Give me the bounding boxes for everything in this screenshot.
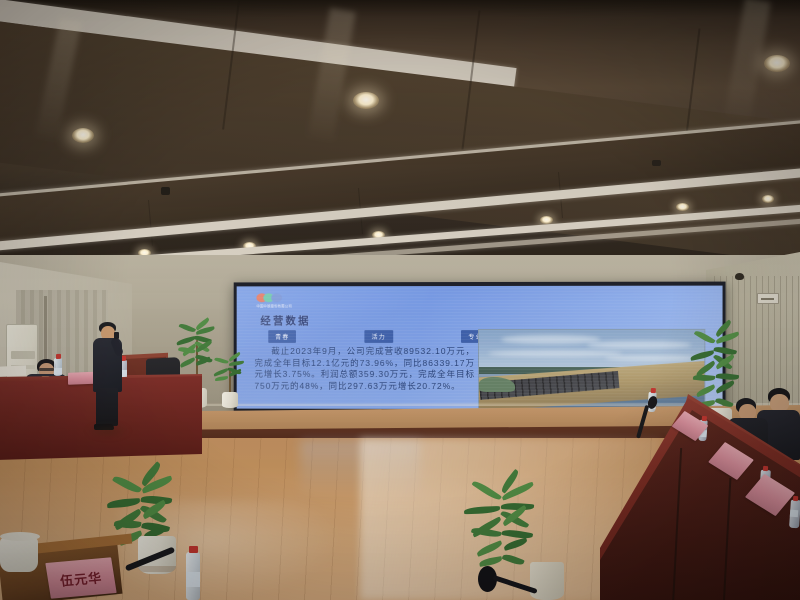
slide-body-text: 截止2023年9月，公司完成营收89532.10万元，完成全年目标12.1亿元的… [254, 346, 475, 392]
plant-pot-shadow [138, 566, 176, 572]
plant-pot [530, 562, 564, 600]
ceiling-spotlight [353, 92, 379, 109]
presenter-legs [96, 388, 118, 426]
glasses-icon [39, 368, 54, 371]
ceiling-speaker-icon [652, 160, 661, 166]
bottle-label [54, 368, 62, 375]
conference-hall-scene: 中国中铁股份有限公司 经营数据 青春 活力 专业 梦想 截止2023年9月，公司… [0, 0, 800, 600]
paper-document [0, 365, 26, 376]
slide-photo [478, 329, 705, 409]
ac-vent [11, 351, 35, 359]
tea-cup-lid [0, 532, 40, 541]
ceiling [0, 0, 800, 292]
slide-tag-1: 青春 [268, 330, 296, 343]
ceiling-spotlight [762, 195, 774, 203]
presenter-shadow [86, 424, 130, 438]
photo-cloud [587, 341, 691, 349]
bottle-label [186, 572, 200, 587]
security-camera-icon [735, 273, 744, 280]
bottle-cap [189, 546, 198, 553]
bottle-cap [701, 416, 706, 421]
bottle-label [790, 510, 798, 518]
slide-tag-2: 活力 [365, 330, 393, 343]
wall-sign [757, 293, 779, 304]
company-logo: 中国中铁股份有限公司 [256, 293, 286, 309]
plant-pot [222, 392, 238, 408]
water-bottle [54, 358, 62, 376]
ceiling-spotlight [676, 203, 689, 211]
microphone-handheld [114, 332, 119, 339]
foreground-water-bottle [186, 552, 200, 600]
photo-bank-vegetation [479, 377, 515, 393]
ceiling-spotlight [72, 128, 94, 143]
ceiling-spotlight [540, 216, 553, 224]
photo-cloud [501, 335, 600, 344]
slide-title: 经营数据 [260, 313, 310, 328]
logo-caption: 中国中铁股份有限公司 [256, 303, 291, 308]
tea-cup [0, 538, 38, 572]
bottle-cap [792, 496, 797, 501]
ceiling-speaker-icon [161, 187, 170, 195]
bottle-cap [762, 466, 767, 471]
ceiling-spotlight [764, 55, 790, 72]
bottle-cap [56, 354, 61, 359]
foreground-nameplate: 伍元华 [45, 557, 116, 598]
bottle-cap [650, 388, 655, 393]
water-bottle [789, 500, 800, 529]
logo-blob-blue [271, 293, 282, 302]
